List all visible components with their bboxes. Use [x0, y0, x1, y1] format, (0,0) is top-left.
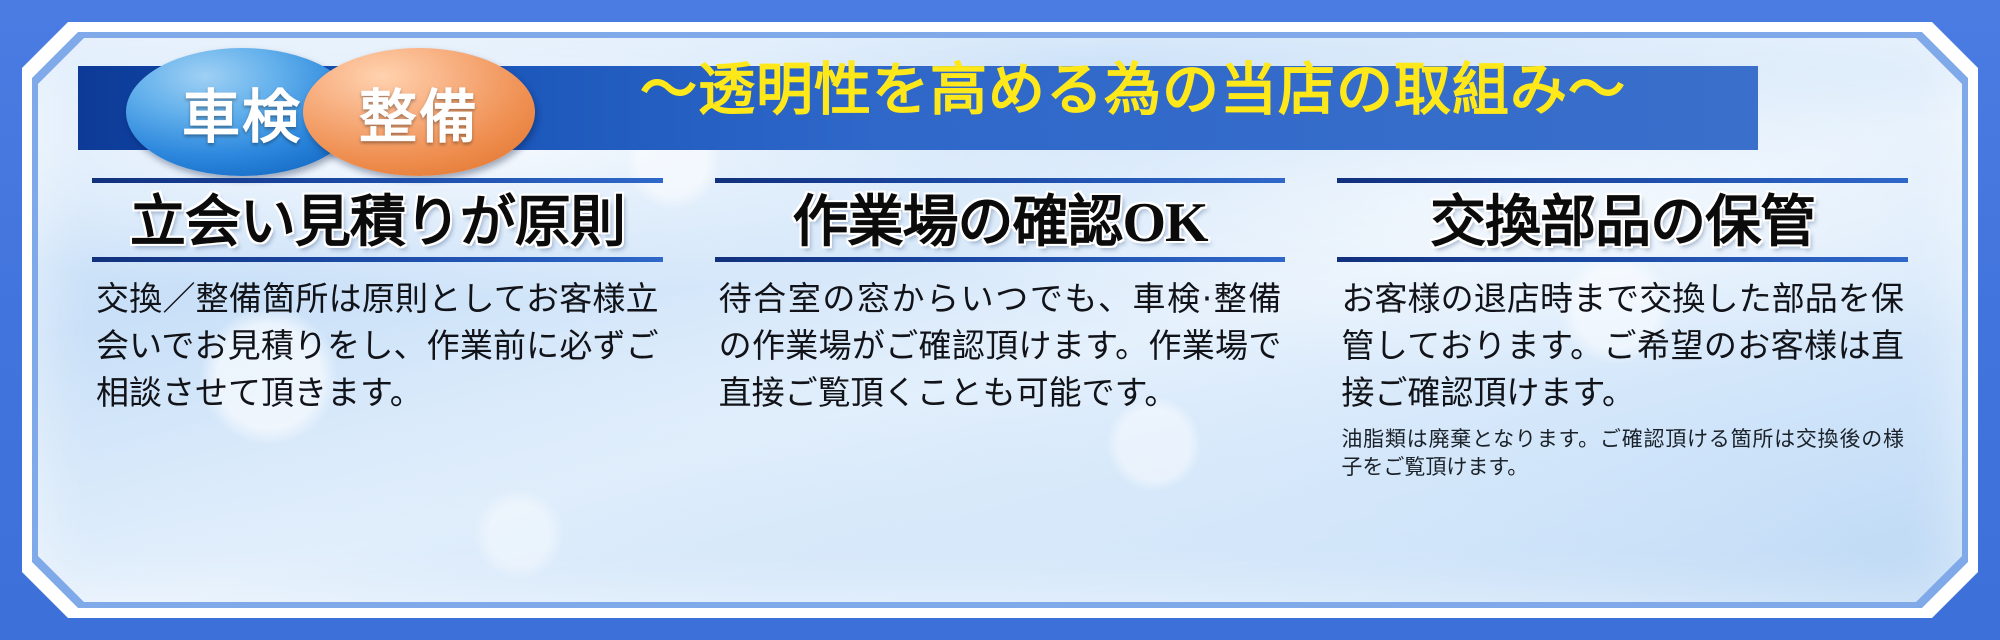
divider-top [715, 178, 1286, 183]
feature-heading: 交換部品の保管 [1337, 193, 1908, 253]
divider-bottom [715, 257, 1286, 262]
feature-heading: 作業場の確認OK [715, 193, 1286, 253]
feature-column-workshop: 作業場の確認OK 待合室の窓からいつでも、車検·整備の作業場がご確認頂けます。作… [693, 178, 1308, 588]
promo-banner: 〜透明性を高める為の当店の取組み〜 車検 整備 立会い見積りが原則 交換／整備箇… [0, 0, 2000, 640]
feature-fine-print: 油脂類は廃棄となります。ご確認頂ける箇所は交換後の様子をご覧頂けます。 [1337, 425, 1908, 482]
divider-top [92, 178, 663, 183]
divider-bottom [1337, 257, 1908, 262]
page-title: 〜透明性を高める為の当店の取組み〜 [508, 62, 1758, 119]
divider-top [1337, 178, 1908, 183]
feature-column-parts-storage: 交換部品の保管 お客様の退店時まで交換した部品を保管しております。ご希望のお客様… [1315, 178, 1930, 588]
badge-shaken-label: 車検 [182, 70, 302, 154]
badge-seibi-label: 整備 [359, 70, 479, 154]
feature-body-text: お客様の退店時まで交換した部品を保管しております。ご希望のお客様は直接ご確認頂け… [1337, 276, 1908, 417]
feature-body-text: 交換／整備箇所は原則としてお客様立会いでお見積りをし、作業前に必ずご相談させて頂… [92, 276, 663, 417]
feature-columns: 立会い見積りが原則 交換／整備箇所は原則としてお客様立会いでお見積りをし、作業前… [70, 178, 1930, 588]
feature-column-estimate: 立会い見積りが原則 交換／整備箇所は原則としてお客様立会いでお見積りをし、作業前… [70, 178, 685, 588]
feature-heading: 立会い見積りが原則 [92, 193, 663, 253]
feature-body-text: 待合室の窓からいつでも、車検·整備の作業場がご確認頂けます。作業場で直接ご覧頂く… [715, 276, 1286, 417]
divider-bottom [92, 257, 663, 262]
badge-seibi: 整備 [303, 48, 535, 176]
banner-content: 〜透明性を高める為の当店の取組み〜 車検 整備 立会い見積りが原則 交換／整備箇… [38, 38, 1962, 602]
